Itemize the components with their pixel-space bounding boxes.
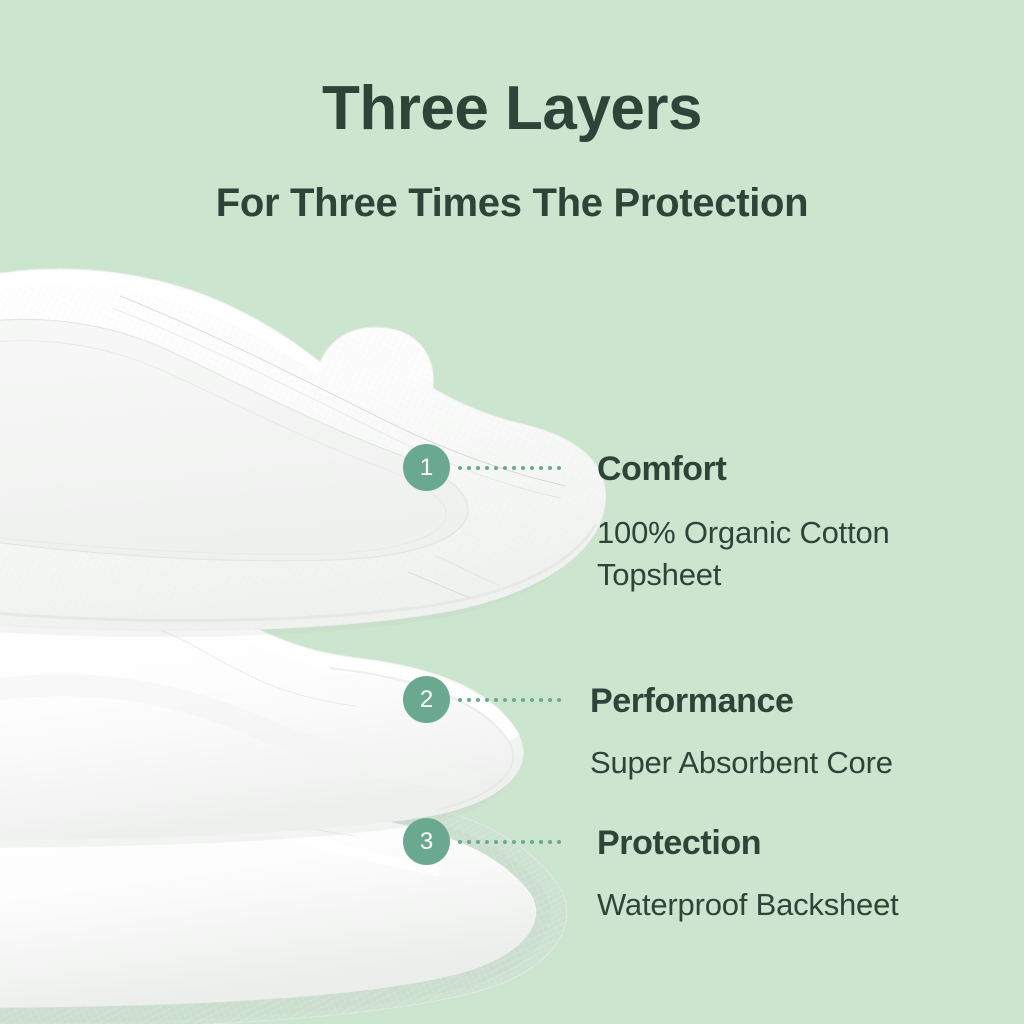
page-subtitle: For Three Times The Protection (0, 181, 1024, 225)
layer-description-2-line1: Super Absorbent Core (590, 742, 1010, 784)
layer-description-1-line2: Topsheet (597, 554, 997, 596)
layer-description-2: Super Absorbent Core (590, 742, 1010, 784)
leader-line-2 (458, 696, 566, 703)
layer-description-1: 100% Organic Cotton Topsheet (597, 512, 997, 596)
topsheet-layer (0, 269, 606, 637)
layer-badge-2: 2 (403, 676, 450, 723)
layer-heading-1: Comfort (597, 452, 726, 486)
leader-line-1 (458, 464, 566, 471)
layer-heading-3: Protection (597, 826, 761, 860)
layer-description-3: Waterproof Backsheet (597, 884, 1017, 926)
layer-badge-3: 3 (403, 818, 450, 865)
infographic-canvas: Three Layers For Three Times The Protect… (0, 0, 1024, 1024)
page-title: Three Layers (0, 76, 1024, 141)
layer-description-3-line1: Waterproof Backsheet (597, 884, 1017, 926)
leader-line-3 (458, 838, 566, 845)
layer-badge-1: 1 (403, 444, 450, 491)
layer-description-1-line1: 100% Organic Cotton (597, 512, 997, 554)
layer-heading-2: Performance (590, 684, 793, 718)
